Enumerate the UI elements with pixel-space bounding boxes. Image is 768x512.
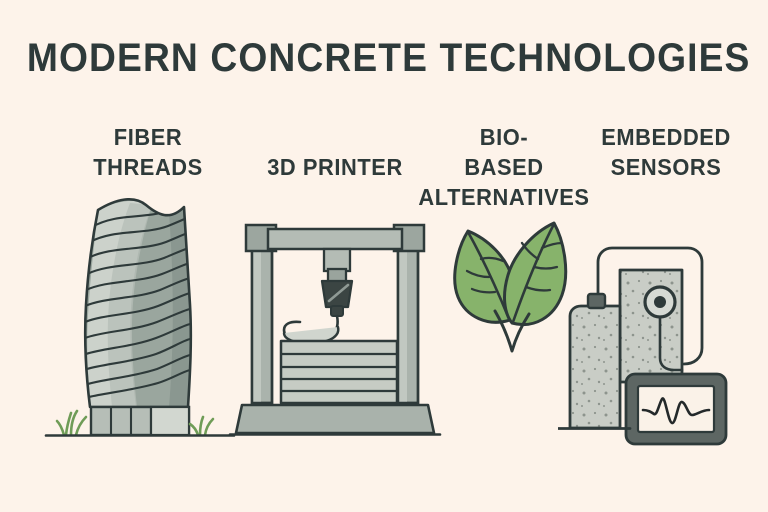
illustration-3d-printer bbox=[228, 215, 443, 455]
illustration-fiber-threads bbox=[40, 185, 240, 455]
leaf-right bbox=[505, 223, 566, 325]
concrete-slab-upper bbox=[620, 270, 682, 382]
concrete-block-with-sensor-and-monitor-icon bbox=[558, 212, 738, 452]
printer-base bbox=[230, 405, 440, 435]
illustration-embedded-sensors bbox=[558, 212, 738, 457]
page-title: MODERN CONCRETE TECHNOLOGIES bbox=[27, 38, 741, 78]
cable-connector bbox=[588, 294, 605, 308]
column-label-fiber-threads: FIBER THREADS bbox=[53, 122, 243, 182]
twisted-fiber-tower-icon bbox=[40, 185, 240, 450]
printed-layer-stack bbox=[281, 341, 397, 403]
sensor-monitor bbox=[626, 374, 726, 444]
embedded-sensor-icon bbox=[645, 287, 675, 317]
column-label-bio-based-alternatives: BIO- BASED ALTERNATIVES bbox=[409, 122, 599, 212]
gantry-3d-printer-icon bbox=[228, 215, 443, 450]
column-label-3d-printer: 3D PRINTER bbox=[240, 152, 430, 182]
tower-podium bbox=[91, 407, 189, 435]
poster-canvas: MODERN CONCRETE TECHNOLOGIES FIBER THREA… bbox=[0, 0, 768, 512]
concrete-block-main bbox=[570, 306, 620, 428]
column-label-embedded-sensors: EMBEDDED SENSORS bbox=[573, 122, 759, 182]
printer-extruder-head bbox=[322, 249, 352, 316]
